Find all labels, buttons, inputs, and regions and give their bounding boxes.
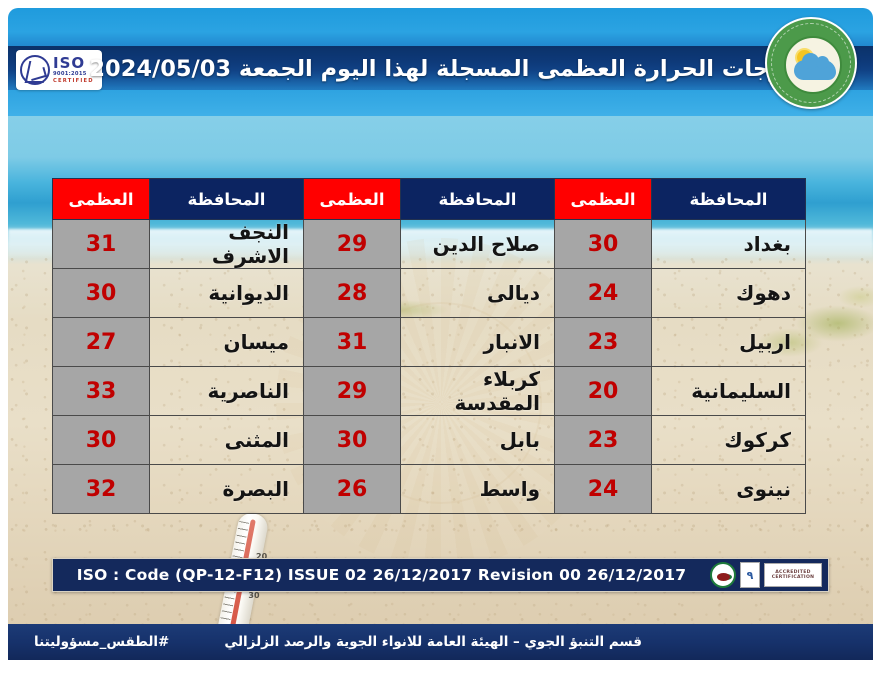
cell-governorate: السليمانية [652,367,806,416]
cell-governorate: البصرة [150,465,304,514]
cell-max-temp: 23 [555,318,652,367]
accreditation-seal-icon [710,562,736,588]
header-max-2: العظمى [304,179,401,220]
cell-max-temp: 31 [304,318,401,367]
cell-governorate: ديالى [401,269,555,318]
cell-governorate: ميسان [150,318,304,367]
certificate-mark-icon: ٩ [740,562,760,588]
cell-max-temp: 24 [555,269,652,318]
cell-max-temp: 29 [304,367,401,416]
table-row: بغداد 30 صلاح الدين 29 النجف الاشرف 31 [53,220,806,269]
bottom-bar: قسم التنبؤ الجوي – الهيئة العامة للانواء… [8,624,873,660]
cell-max-temp: 28 [304,269,401,318]
certification-body-line2: CERTIFICATION [772,575,815,580]
header-governorate-3: المحافظة [150,179,304,220]
cell-governorate: كربلاء المقدسة [401,367,555,416]
header-governorate-2: المحافظة [401,179,555,220]
table-row: اربيل 23 الانبار 31 ميسان 27 [53,318,806,367]
cell-max-temp: 23 [555,416,652,465]
iso-footer-bar: ISO : Code (QP-12-F12) ISSUE 02 26/12/20… [52,558,829,592]
cloud-icon [794,60,836,80]
cell-governorate: صلاح الدين [401,220,555,269]
cell-max-temp: 26 [304,465,401,514]
hashtag-label: #الطقس_مسؤوليتنا [34,634,169,650]
iso-footer-badges: ٩ ACCREDITED CERTIFICATION [710,562,822,588]
table-row: كركوك 23 بابل 30 المثنى 30 [53,416,806,465]
iso-footer-text: ISO : Code (QP-12-F12) ISSUE 02 26/12/20… [59,566,704,584]
cell-max-temp: 30 [304,416,401,465]
cell-max-temp: 31 [53,220,150,269]
table-body: بغداد 30 صلاح الدين 29 النجف الاشرف 31 د… [53,220,806,514]
cell-governorate: المثنى [150,416,304,465]
cell-max-temp: 30 [555,220,652,269]
thermometer-label-30: 30 [248,591,259,600]
table-row: دهوك 24 ديالى 28 الديوانية 30 [53,269,806,318]
header-band: ISO 9001:2015 CERTIFIED درجات الحرارة ال… [8,8,873,116]
cell-governorate: بغداد [652,220,806,269]
cell-governorate: الانبار [401,318,555,367]
certification-body-icon: ACCREDITED CERTIFICATION [764,563,822,587]
iso-check-icon [20,55,50,85]
cell-governorate: الناصرية [150,367,304,416]
cell-governorate: بابل [401,416,555,465]
cell-max-temp: 29 [304,220,401,269]
cell-governorate: نينوى [652,465,806,514]
main-panel: 20 30 40 المحافظة العظمى المحافظة العظمى… [8,116,873,628]
cell-max-temp: 20 [555,367,652,416]
cell-max-temp: 30 [53,416,150,465]
agency-seal-disc [784,36,842,94]
weather-poster: ISO 9001:2015 CERTIFIED درجات الحرارة ال… [0,0,881,678]
cell-max-temp: 27 [53,318,150,367]
cell-max-temp: 33 [53,367,150,416]
table-header-row: المحافظة العظمى المحافظة العظمى المحافظة… [53,179,806,220]
header-governorate-1: المحافظة [652,179,806,220]
cell-max-temp: 32 [53,465,150,514]
agency-seal-icon [765,17,857,109]
cell-governorate: الديوانية [150,269,304,318]
cell-governorate: النجف الاشرف [150,220,304,269]
cell-max-temp: 24 [555,465,652,514]
department-label: قسم التنبؤ الجوي – الهيئة العامة للانواء… [169,634,847,650]
header-max-1: العظمى [555,179,652,220]
table-row: السليمانية 20 كربلاء المقدسة 29 الناصرية… [53,367,806,416]
cell-governorate: دهوك [652,269,806,318]
cell-governorate: كركوك [652,416,806,465]
cell-governorate: واسط [401,465,555,514]
header-max-3: العظمى [53,179,150,220]
cell-governorate: اربيل [652,318,806,367]
page-title: درجات الحرارة العظمى المسجلة لهذا اليوم … [138,49,745,89]
temperature-table: المحافظة العظمى المحافظة العظمى المحافظة… [52,178,806,514]
table-row: نينوى 24 واسط 26 البصرة 32 [53,465,806,514]
cell-max-temp: 30 [53,269,150,318]
